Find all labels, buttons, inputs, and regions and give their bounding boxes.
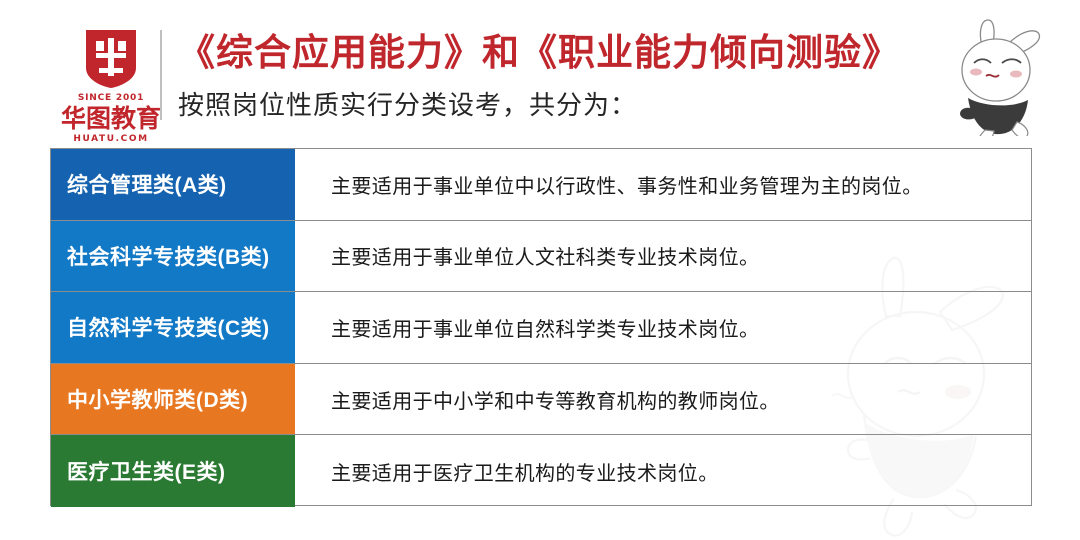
category-label-a: 综合管理类(A类) <box>51 149 295 220</box>
header: SINCE 2001 华图教育 HUATU.COM 《综合应用能力》和《职业能力… <box>0 0 1080 140</box>
page-title: 《综合应用能力》和《职业能力倾向测验》 <box>178 29 900 77</box>
huatu-shield-icon <box>84 28 138 90</box>
logo-since-text: SINCE 2001 <box>55 93 167 104</box>
table-row[interactable]: 自然科学专技类(C类) 主要适用于事业单位自然科学类专业技术岗位。 <box>51 292 1031 364</box>
category-label-b: 社会科学专技类(B类) <box>51 221 295 292</box>
logo-brand-en: HUATU.COM <box>55 134 167 145</box>
category-description-e: 主要适用于医疗卫生机构的专业技术岗位。 <box>295 435 1031 507</box>
category-description-c: 主要适用于事业单位自然科学类专业技术岗位。 <box>295 292 1031 363</box>
table-row[interactable]: 综合管理类(A类) 主要适用于事业单位中以行政性、事务性和业务管理为主的岗位。 <box>51 149 1031 221</box>
table-row[interactable]: 中小学教师类(D类) 主要适用于中小学和中专等教育机构的教师岗位。 <box>51 364 1031 436</box>
category-description-b: 主要适用于事业单位人文社科类专业技术岗位。 <box>295 221 1031 292</box>
header-divider <box>160 30 162 120</box>
rabbit-mascot-icon <box>938 14 1056 136</box>
category-label-e: 医疗卫生类(E类) <box>51 435 295 507</box>
table-row[interactable]: 医疗卫生类(E类) 主要适用于医疗卫生机构的专业技术岗位。 <box>51 435 1031 507</box>
category-table: 综合管理类(A类) 主要适用于事业单位中以行政性、事务性和业务管理为主的岗位。 … <box>50 148 1032 506</box>
logo-brand-cn: 华图教育 <box>55 106 167 133</box>
category-description-a: 主要适用于事业单位中以行政性、事务性和业务管理为主的岗位。 <box>295 149 1031 220</box>
category-label-d: 中小学教师类(D类) <box>51 364 295 435</box>
category-label-c: 自然科学专技类(C类) <box>51 292 295 363</box>
category-description-d: 主要适用于中小学和中专等教育机构的教师岗位。 <box>295 364 1031 435</box>
table-row[interactable]: 社会科学专技类(B类) 主要适用于事业单位人文社科类专业技术岗位。 <box>51 221 1031 293</box>
slide-canvas: SINCE 2001 华图教育 HUATU.COM 《综合应用能力》和《职业能力… <box>0 0 1080 540</box>
page-subtitle: 按照岗位性质实行分类设考，共分为： <box>178 86 637 124</box>
brand-logo[interactable]: SINCE 2001 华图教育 HUATU.COM <box>55 28 167 128</box>
